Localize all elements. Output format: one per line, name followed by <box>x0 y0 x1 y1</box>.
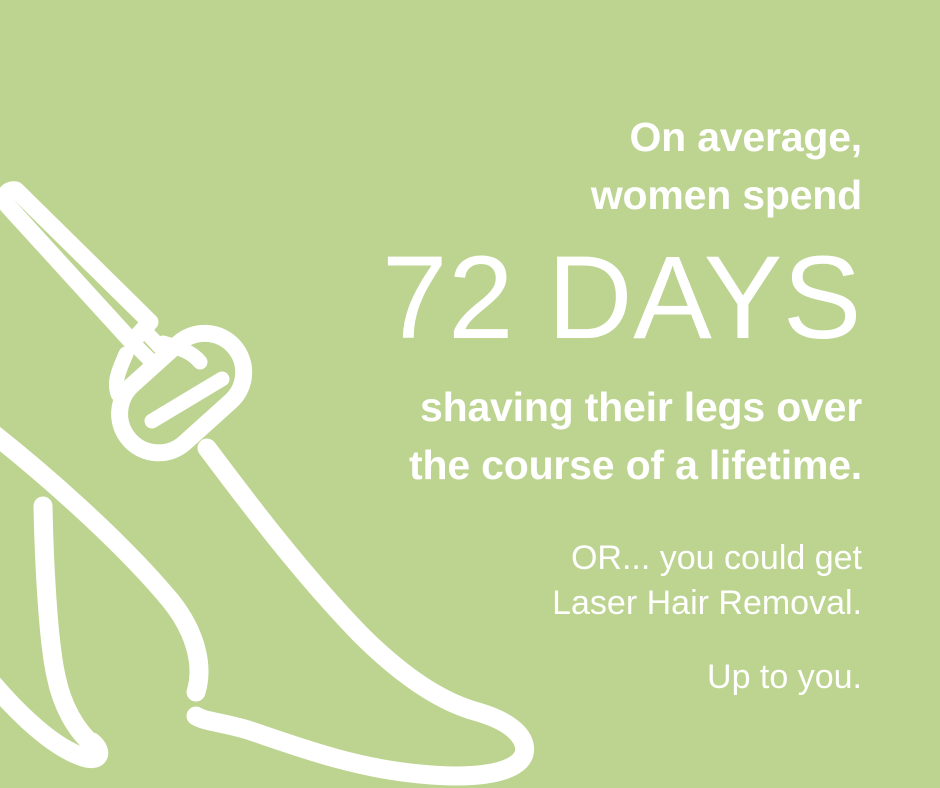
subhead-text: shaving their legs over the course of a … <box>242 360 862 494</box>
closing-text: Up to you. <box>242 626 862 700</box>
text-column: On average, women spend 72 DAYS shaving … <box>242 0 862 700</box>
razor-handle-shape <box>5 190 150 342</box>
lede-text: On average, women spend <box>242 0 862 224</box>
razor-head-shape <box>104 317 260 469</box>
razor-blade-line <box>152 379 222 421</box>
lede-line-2: women spend <box>242 166 862 224</box>
thigh-line <box>0 428 199 692</box>
alt-offer-line-2: Laser Hair Removal. <box>242 581 862 626</box>
headline-72-days: 72 DAYS <box>242 224 862 360</box>
lede-line-1: On average, <box>242 108 862 166</box>
alternative-offer-text: OR... you could get Laser Hair Removal. <box>242 494 862 626</box>
poster-canvas: On average, women spend 72 DAYS shaving … <box>0 0 940 788</box>
alt-offer-line-1: OR... you could get <box>242 536 862 581</box>
razor-neck-shape <box>116 330 200 394</box>
subhead-line-2: the course of a lifetime. <box>242 436 862 494</box>
second-leg-outline <box>0 506 99 759</box>
subhead-line-1: shaving their legs over <box>242 378 862 436</box>
